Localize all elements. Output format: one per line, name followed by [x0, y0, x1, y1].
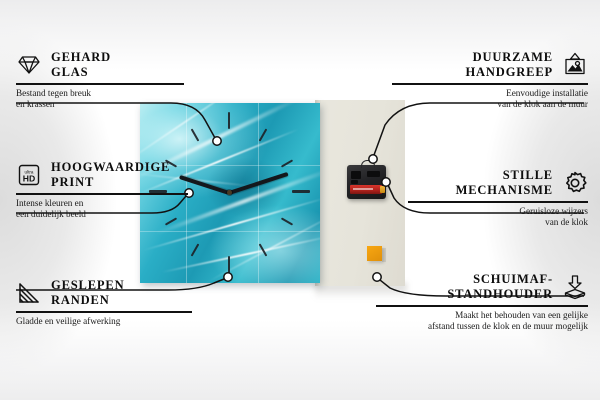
feature-title-line2: MECHANISME: [456, 183, 553, 198]
feature-header: ultra HD HOOGWAARDIGE PRINT: [16, 160, 188, 189]
feature-header: GEHARD GLAS: [16, 50, 184, 79]
feature-rule: [16, 311, 192, 313]
feature-title-line2: RANDEN: [51, 293, 125, 308]
feature-title-line2: STANDHOUDER: [447, 287, 553, 302]
feature-rule: [392, 83, 588, 85]
feature-titles: GESLEPEN RANDEN: [51, 278, 125, 307]
feature-title-line2: HANDGREEP: [465, 65, 553, 80]
product-feature-infographic: GEHARD GLAS Bestand tegen breuk en krass…: [0, 0, 600, 400]
foam-spacer-arrow-icon: [562, 274, 588, 300]
feature-description: Eenvoudige installatie van de klok aan d…: [392, 88, 588, 111]
feature-header: STILLE MECHANISME: [408, 168, 588, 197]
feature-header: GESLEPEN RANDEN: [16, 278, 192, 307]
feature-description: Maakt het behouden van een gelijke afsta…: [376, 310, 588, 333]
feature-schuimafstandhouder[interactable]: SCHUIMAF- STANDHOUDER Maakt het behouden…: [376, 272, 588, 332]
feature-title-line1: STILLE: [456, 168, 553, 183]
feature-rule: [16, 193, 188, 195]
feature-title-line1: GESLEPEN: [51, 278, 125, 293]
picture-frame-hanger-icon: [562, 52, 588, 78]
feature-header: SCHUIMAF- STANDHOUDER: [376, 272, 588, 301]
feature-rule: [376, 305, 588, 307]
feature-description: Gladde en veilige afwerking: [16, 316, 192, 327]
feature-titles: STILLE MECHANISME: [456, 168, 553, 197]
feature-title-line1: GEHARD: [51, 50, 111, 65]
feature-description: Intense kleuren en een duidelijk beeld: [16, 198, 188, 221]
feature-duurzame-handgreep[interactable]: DUURZAME HANDGREEP Eenvoudige installati…: [392, 50, 588, 110]
feature-gehard-glas[interactable]: GEHARD GLAS Bestand tegen breuk en krass…: [16, 50, 184, 110]
feature-rule: [16, 83, 184, 85]
feature-titles: HOOGWAARDIGE PRINT: [51, 160, 170, 189]
bevelled-edges-icon: [16, 280, 42, 306]
feature-stille-mechanisme[interactable]: STILLE MECHANISME Geruisloze wijzers van…: [408, 168, 588, 228]
feature-titles: DUURZAME HANDGREEP: [465, 50, 553, 79]
feature-geslepen-randen[interactable]: GESLEPEN RANDEN Gladde en veilige afwerk…: [16, 278, 192, 327]
feature-title-line1: DUURZAME: [465, 50, 553, 65]
feature-description: Geruisloze wijzers van de klok: [408, 206, 588, 229]
feature-title-line1: SCHUIMAF-: [447, 272, 553, 287]
feature-titles: GEHARD GLAS: [51, 50, 111, 79]
feature-titles: SCHUIMAF- STANDHOUDER: [447, 272, 553, 301]
feature-title-line2: GLAS: [51, 65, 111, 80]
feature-hoogwaardige-print[interactable]: ultra HD HOOGWAARDIGE PRINT Intense kleu…: [16, 160, 188, 220]
feature-title-line1: HOOGWAARDIGE: [51, 160, 170, 175]
feature-description: Bestand tegen breuk en krassen: [16, 88, 184, 111]
feature-title-line2: PRINT: [51, 175, 170, 190]
gear-icon: [562, 170, 588, 196]
feature-header: DUURZAME HANDGREEP: [392, 50, 588, 79]
feature-rule: [408, 201, 588, 203]
ultra-hd-icon: ultra HD: [16, 162, 42, 188]
diamond-icon: [16, 52, 42, 78]
svg-text:HD: HD: [23, 173, 35, 183]
